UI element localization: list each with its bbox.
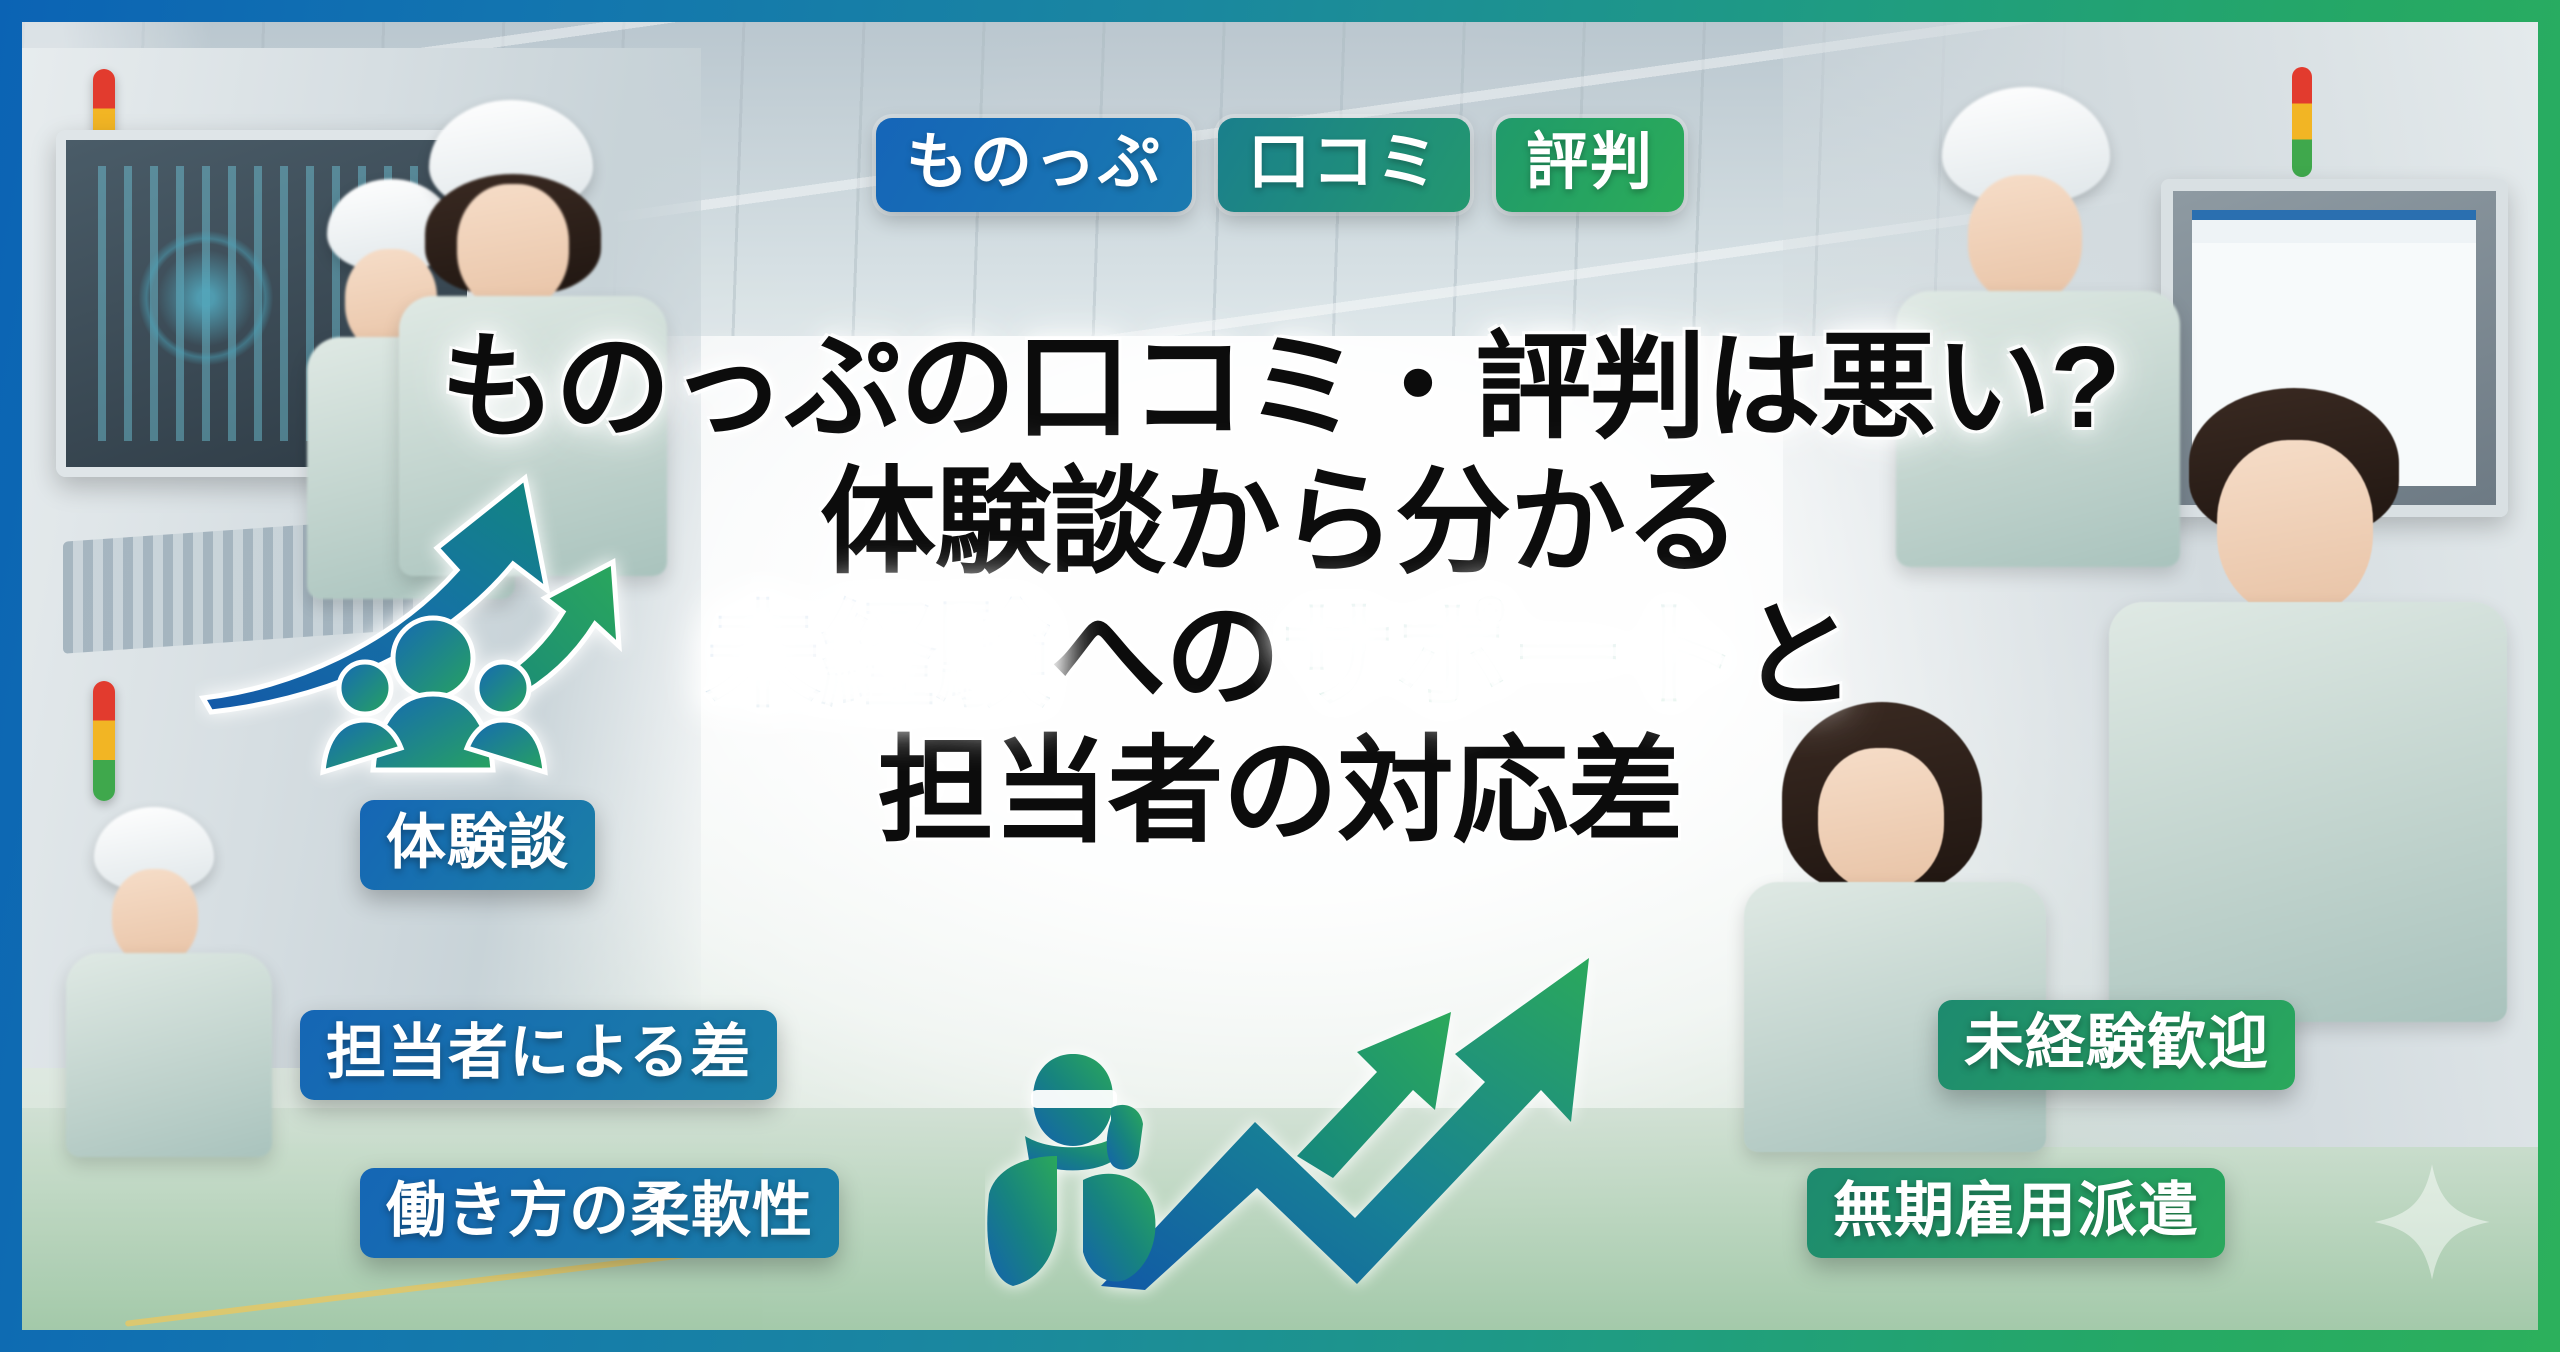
tag-mikeiken-kangei[interactable]: 未経験歓迎 <box>1938 1000 2295 1090</box>
tag-hatarakikata-juunansei[interactable]: 働き方の柔軟性 <box>360 1168 839 1258</box>
headline-line3-eno: への <box>1050 591 1280 721</box>
headline-accent-support: サポート <box>1280 591 1740 721</box>
sparkle-icon <box>2372 1162 2492 1282</box>
headline-line-1: ものっぷの口コミ・評判は悪い? <box>0 320 2560 455</box>
headline-line-3: 未経験へのサポートと <box>0 589 2560 724</box>
badge-monopu[interactable]: ものっぷ <box>876 118 1192 212</box>
tag-taikendan[interactable]: 体験談 <box>360 800 595 890</box>
banner-root: ものっぷ 口コミ 評判 ものっぷの口コミ・評判は悪い? 体験談から分かる 未経験… <box>0 0 2560 1352</box>
headline-line-2: 体験談から分かる <box>0 455 2560 590</box>
tag-muki-koyou-haken[interactable]: 無期雇用派遣 <box>1807 1168 2225 1258</box>
top-badge-row: ものっぷ 口コミ 評判 <box>0 118 2560 212</box>
headline-block: ものっぷの口コミ・評判は悪い? 体験談から分かる 未経験へのサポートと 担当者の… <box>0 320 2560 858</box>
worker-bottom-left <box>60 807 310 1157</box>
badge-kuchikomi[interactable]: 口コミ <box>1218 118 1470 212</box>
tag-tantousha-ni-yoru-sa[interactable]: 担当者による差 <box>300 1010 777 1100</box>
badge-hyouban[interactable]: 評判 <box>1496 118 1684 212</box>
headline-line3-to: と <box>1740 591 1855 721</box>
headline-accent-mikeiken: 未経験 <box>705 591 1050 721</box>
